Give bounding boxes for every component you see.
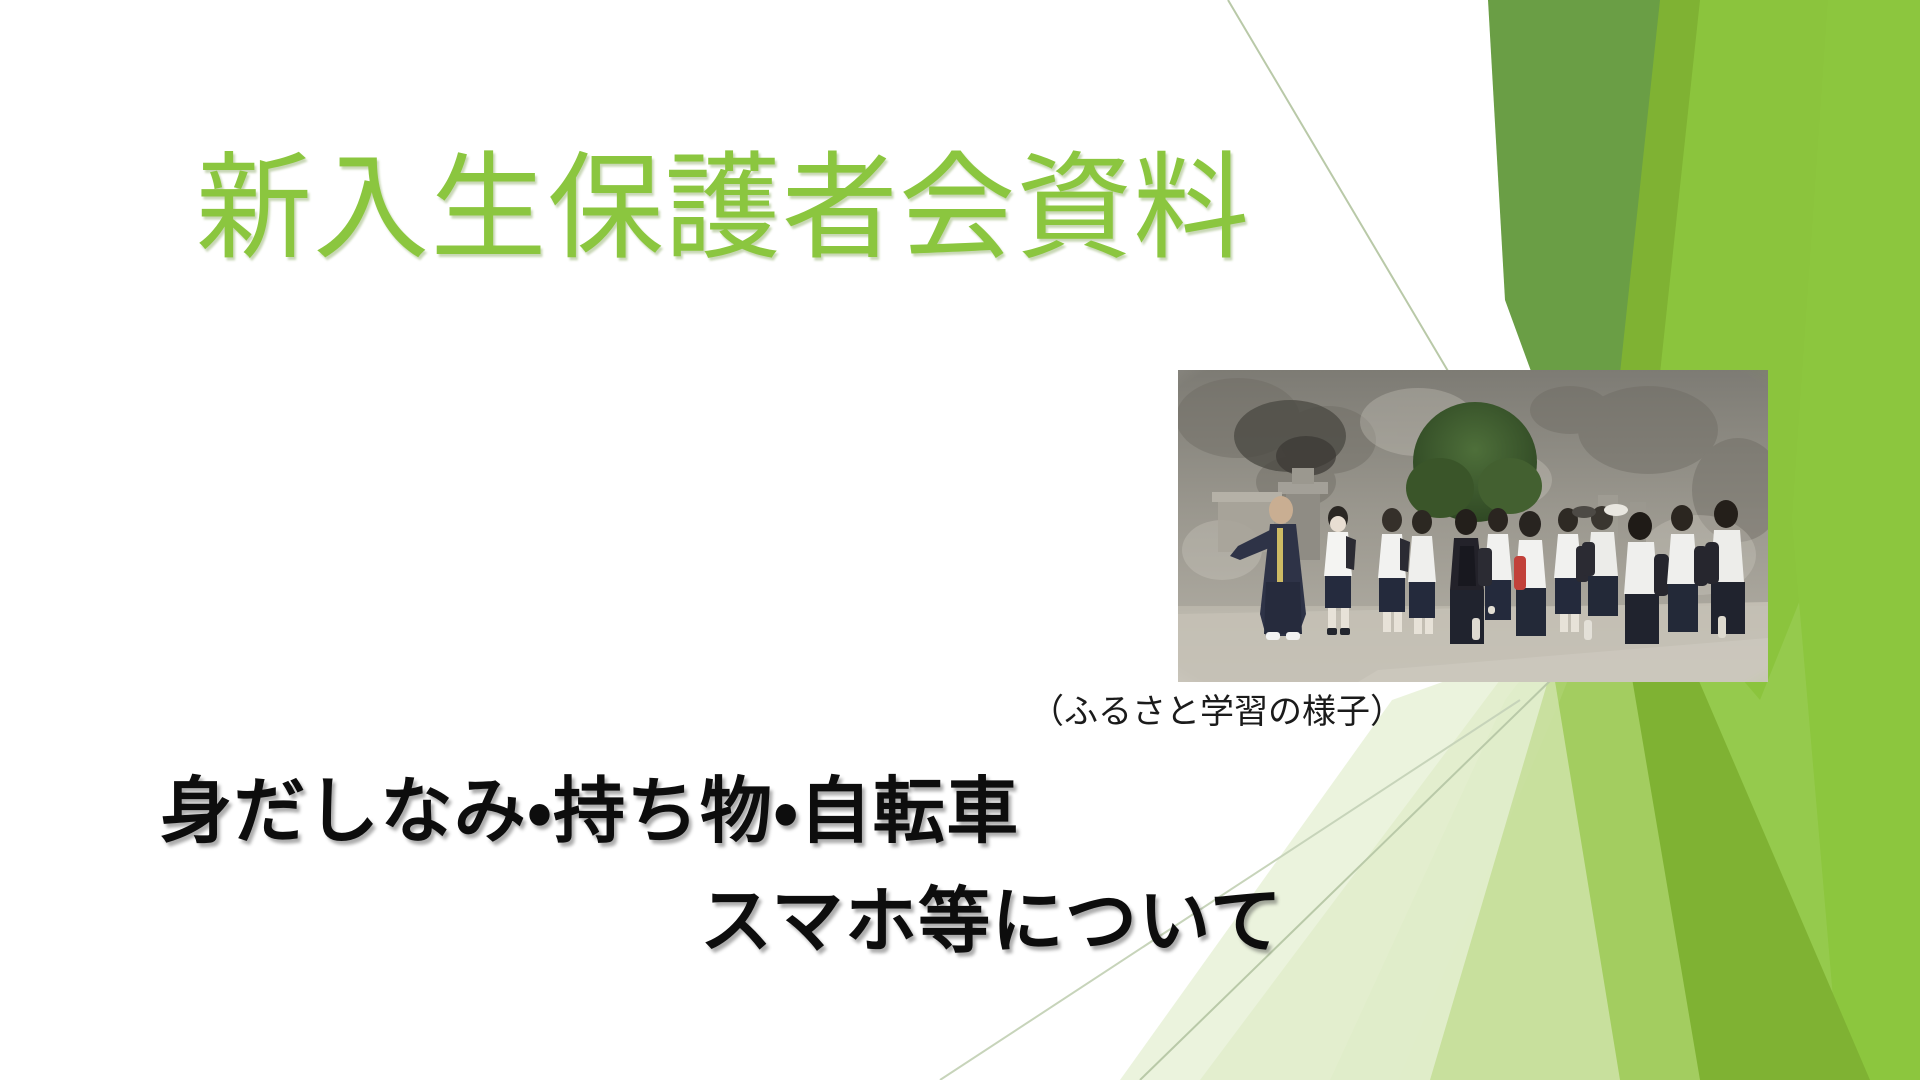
fieldwork-photo [1178, 370, 1768, 682]
photo-students-group [1324, 500, 1745, 644]
facet-shape-right-bright [1792, 0, 1920, 1080]
facet-shape-pale-overlay [1200, 620, 1620, 1080]
presentation-slide: 新入生保護者会資料 [0, 0, 1920, 1080]
slide-title: 新入生保護者会資料 [196, 140, 1256, 277]
photo-caption: （ふるさと学習の様子） [1030, 690, 1430, 734]
subtitle-line-1: 身だしなみ・持ち物・自転車 [160, 752, 1020, 857]
subtitle-line-2: スマホ等について [700, 862, 1283, 967]
photo-frame [1178, 370, 1768, 682]
